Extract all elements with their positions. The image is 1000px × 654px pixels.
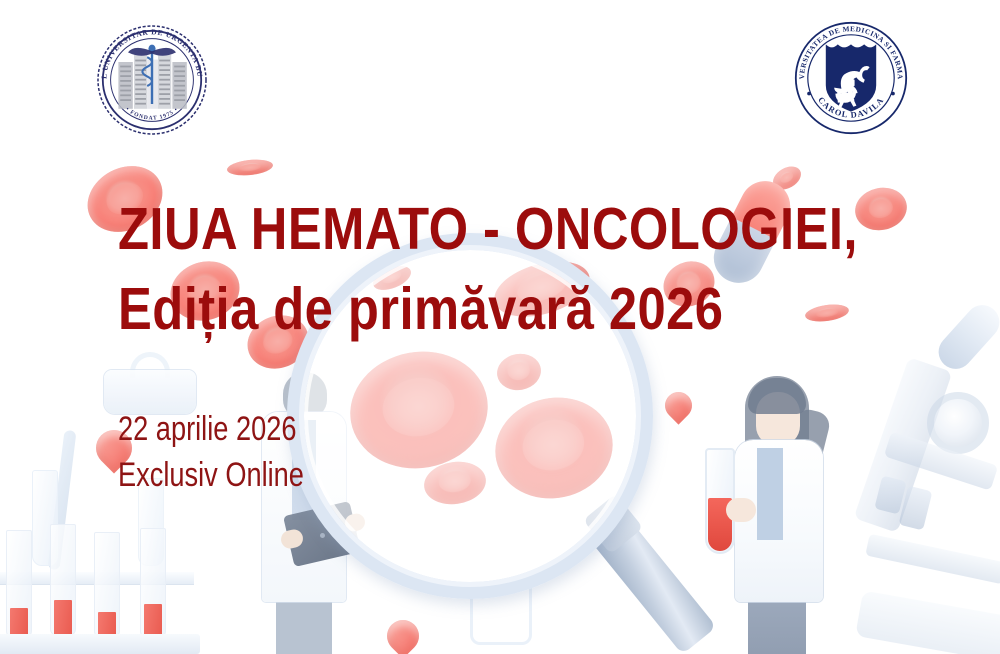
conference-banner: SPITALUL UNIVERSITAR DE URGENTA BUCUREST… bbox=[0, 0, 1000, 654]
headline-line-2: Ediția de primăvară 2026 bbox=[118, 280, 723, 339]
headline-line-1: ZIUA HEMATO - ONCOLOGIEI, bbox=[118, 200, 858, 259]
event-date: 22 aprilie 2026 bbox=[118, 412, 296, 446]
text-block: ZIUA HEMATO - ONCOLOGIEI, Ediția de prim… bbox=[0, 0, 1000, 654]
event-format: Exclusiv Online bbox=[118, 458, 304, 492]
